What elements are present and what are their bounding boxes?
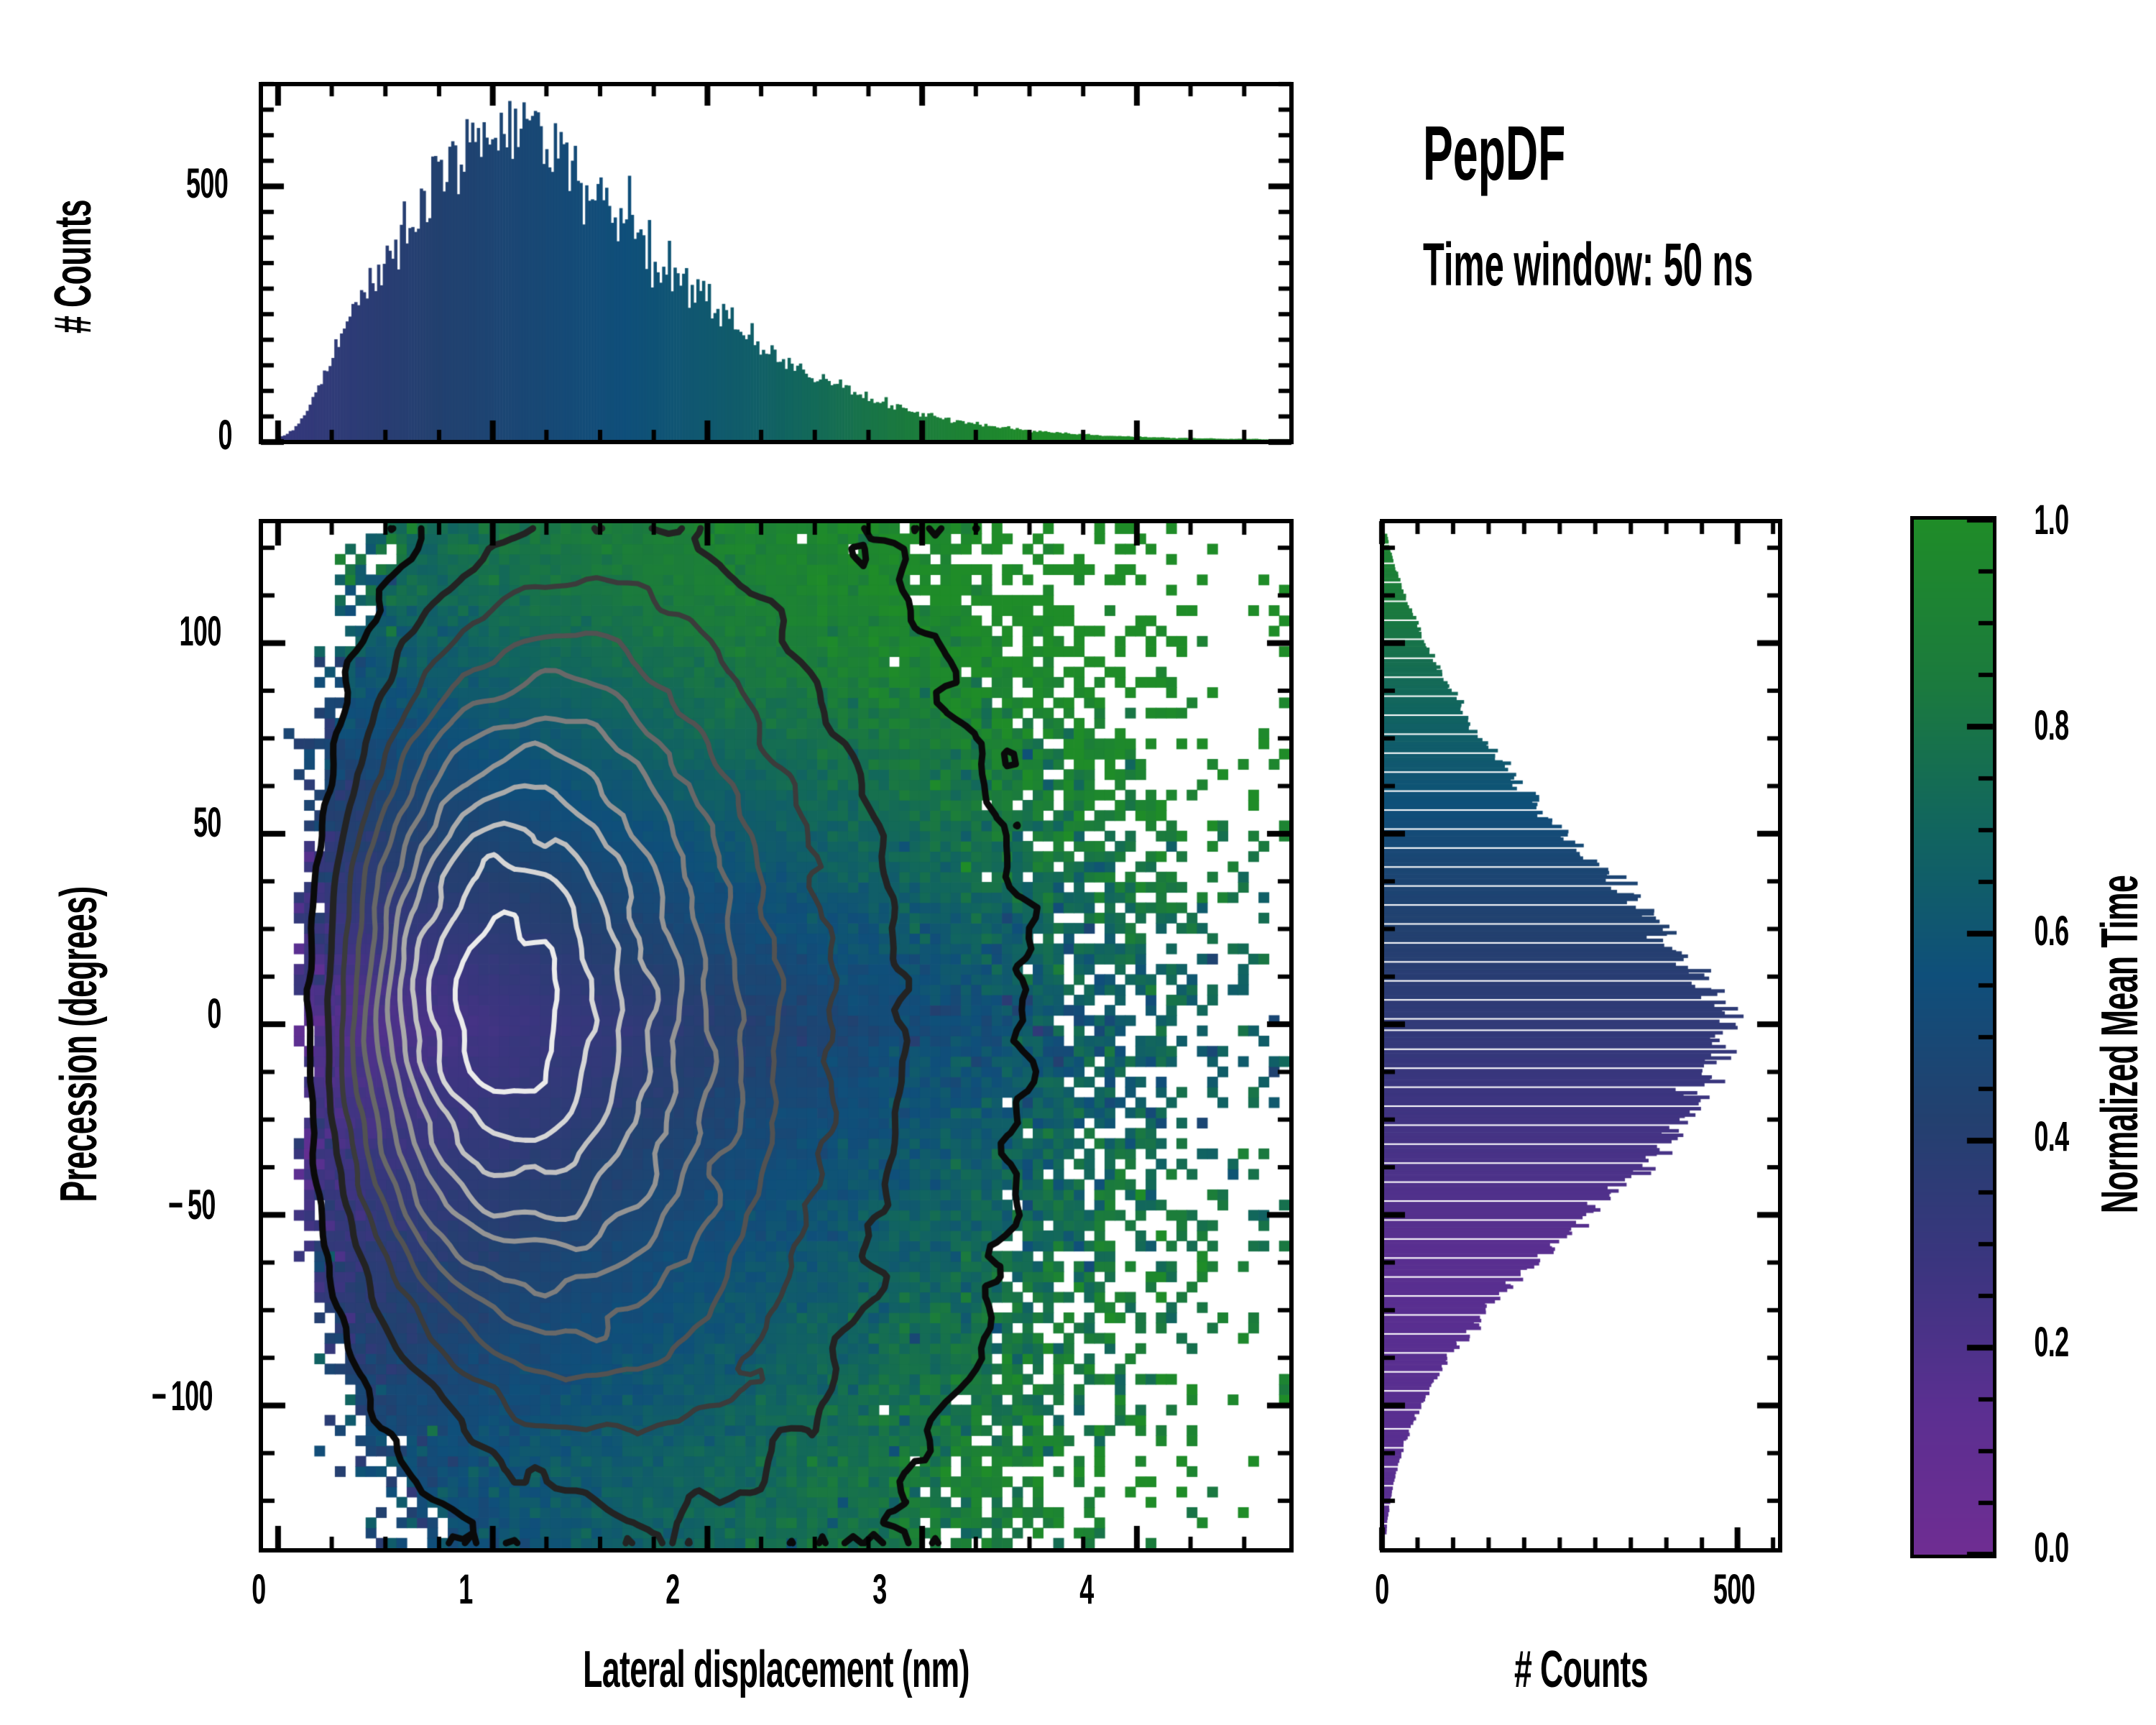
main-xtick-2: 2 [659,1565,686,1614]
main-ytick-neg100: − 100 [109,1372,213,1420]
right-xtick-500: 500 [1705,1565,1764,1614]
main-ylabel: Precession (degrees) [50,822,109,1267]
figure-root: 0 500 # Counts 100 50 0 − 50 − 100 0 1 2… [0,0,2156,1725]
colorbar-tick-0.2: 0.2 [2034,1318,2105,1366]
main-xtick-4: 4 [1073,1565,1100,1614]
main-xtick-1: 1 [452,1565,479,1614]
top-marginal-histogram-panel [259,82,1294,444]
right-marginal-histogram-panel [1380,519,1782,1552]
colorbar-tick-0.0: 0.0 [2034,1524,2105,1572]
right-xtick-0: 0 [1368,1565,1395,1614]
main-xtick-3: 3 [866,1565,893,1614]
right-xlabel: # Counts [1470,1640,1692,1699]
top-ytick-0: 0 [192,411,232,459]
main-ytick-0: 0 [145,990,221,1038]
main-xlabel: Lateral displacement (nm) [553,1640,999,1699]
main-xtick-0: 0 [245,1565,272,1614]
figure-title: PepDF [1423,108,1565,198]
main-ytick-50: 50 [145,799,221,847]
colorbar [1910,516,1996,1558]
figure-subtitle: Time window: 50 ns [1423,230,1753,300]
main-heatmap-panel [259,519,1294,1552]
colorbar-tick-1.0: 1.0 [2034,496,2105,544]
top-ytick-500: 500 [175,160,228,208]
colorbar-label: Normalized Mean Time [2091,822,2150,1267]
main-ytick-neg50: − 50 [121,1181,215,1229]
main-ytick-100: 100 [145,607,221,655]
colorbar-tick-0.8: 0.8 [2034,701,2105,750]
top-ylabel: # Counts [44,178,103,356]
